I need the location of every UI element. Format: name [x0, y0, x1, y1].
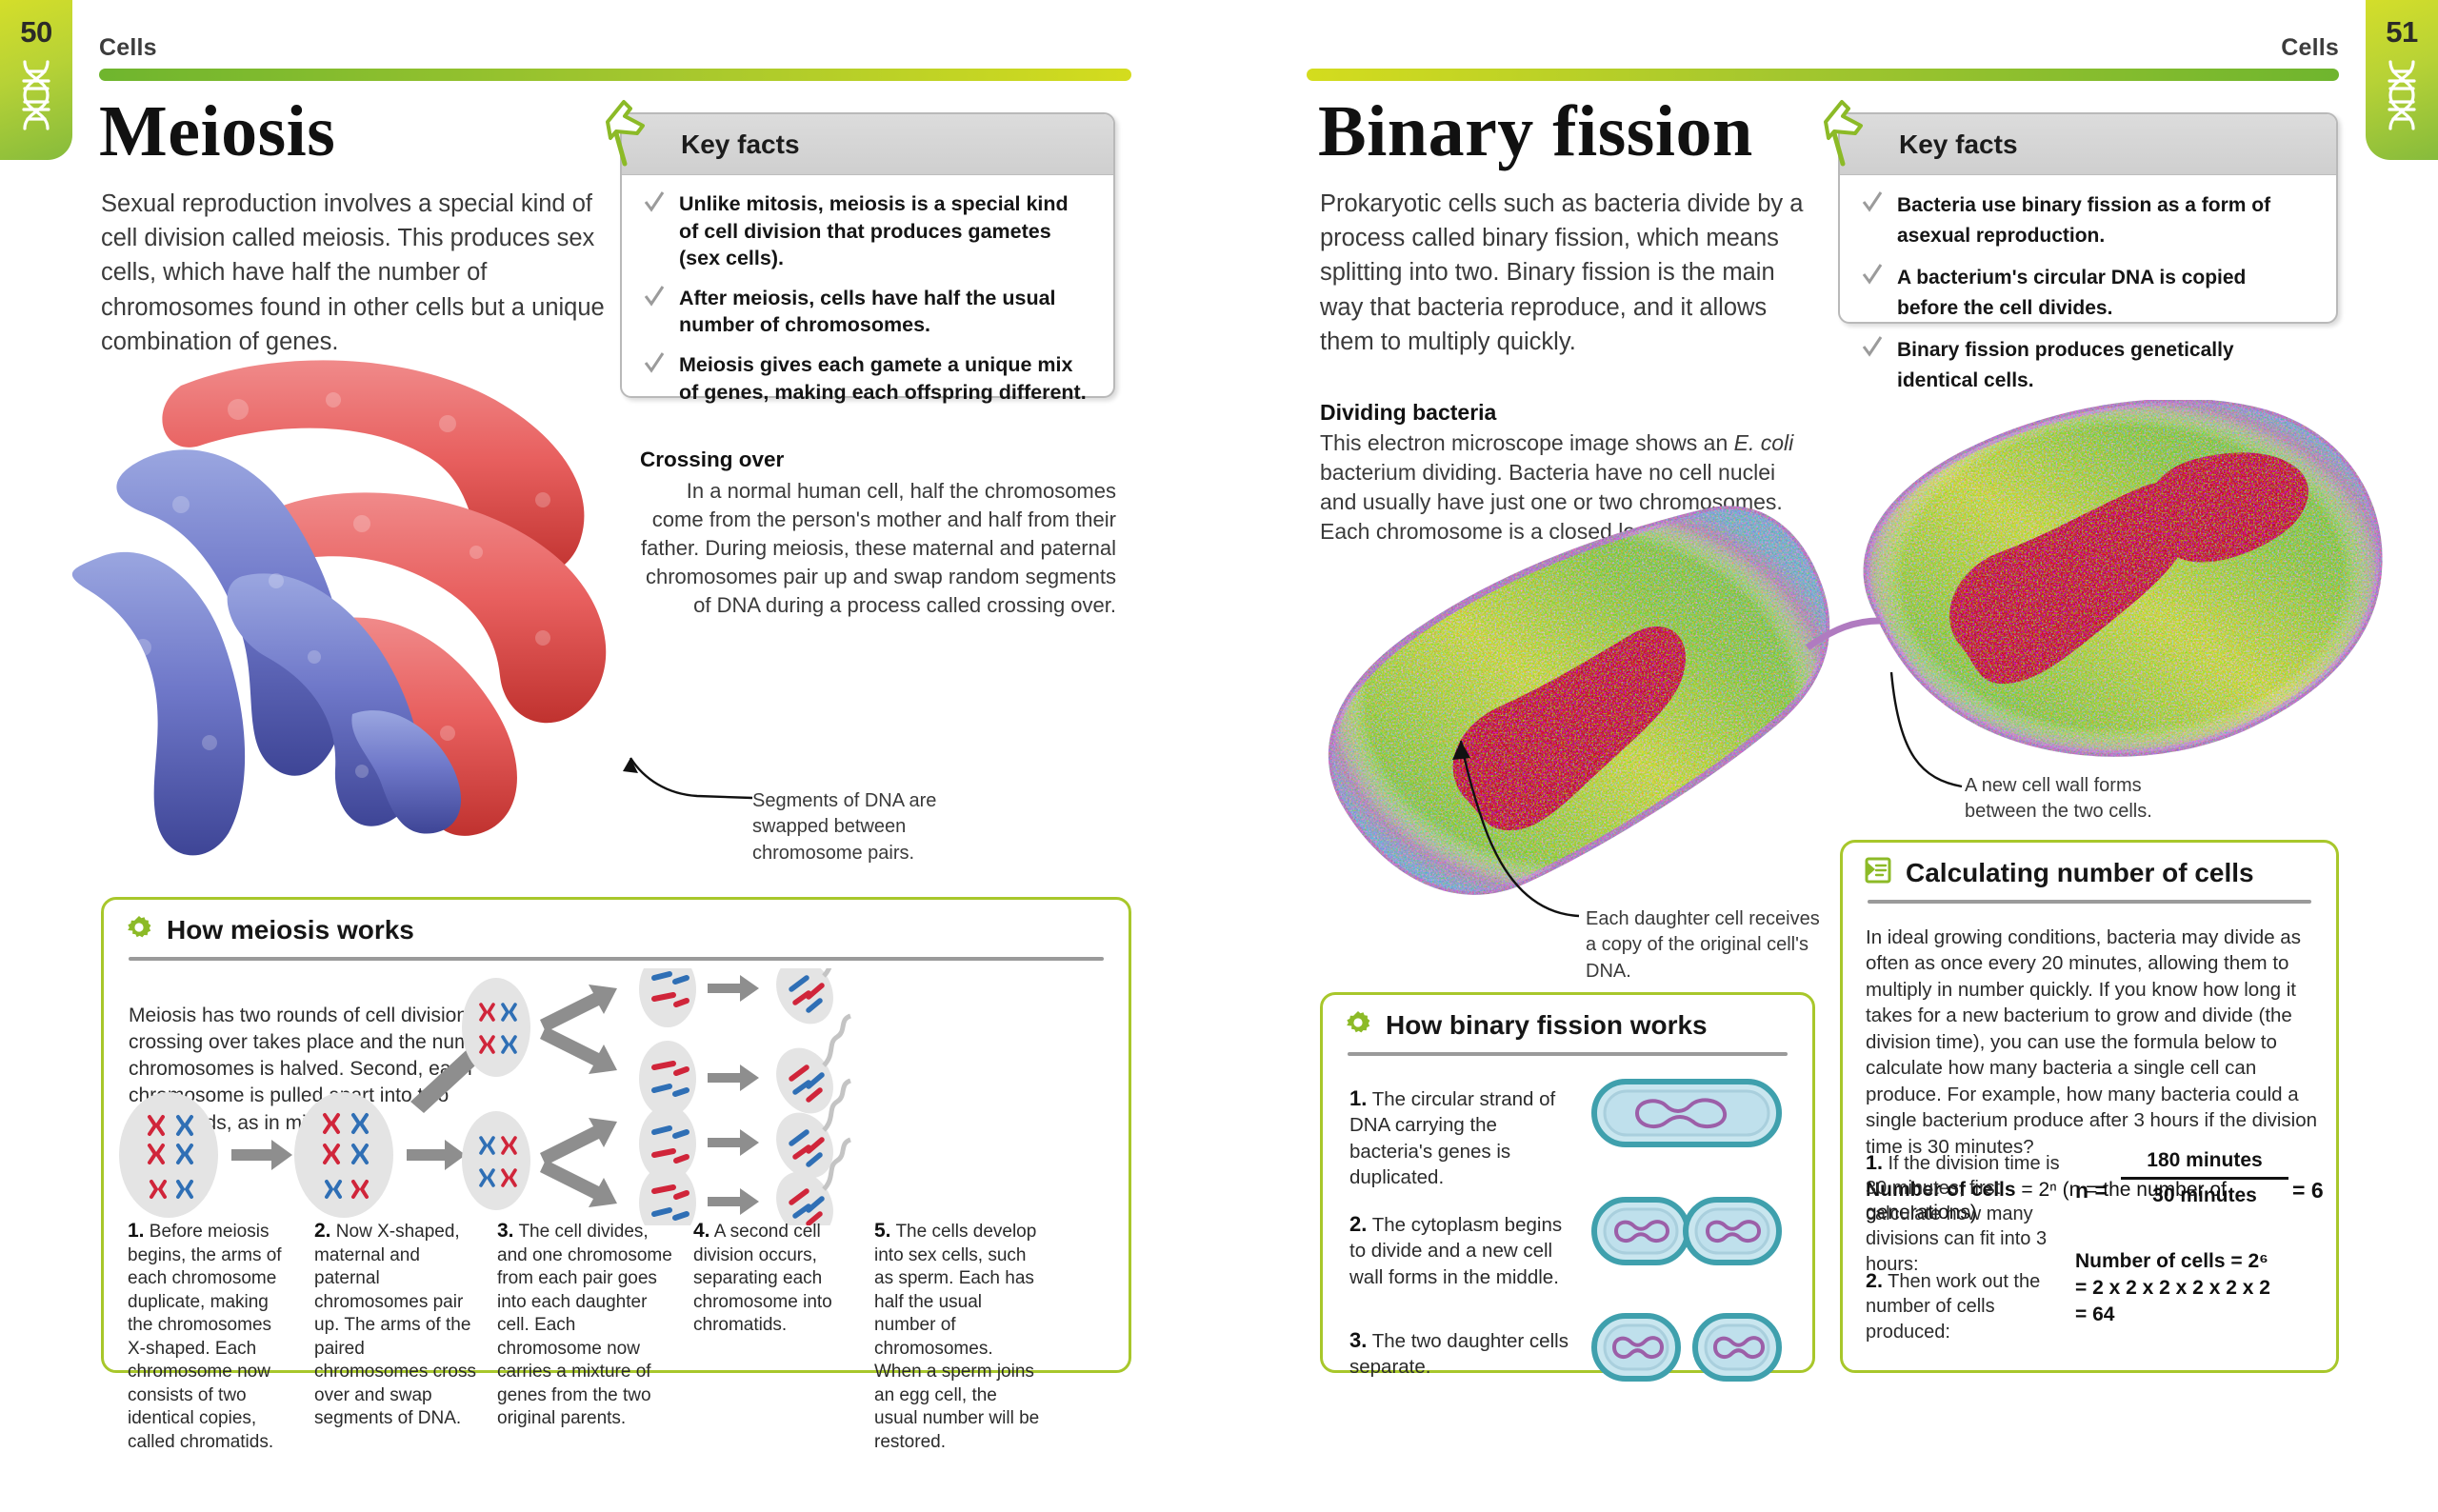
calc-result-line: = 2 x 2 x 2 x 2 x 2 x 2 [2075, 1275, 2332, 1302]
step-number: 5. [874, 1220, 891, 1242]
key-facts-title-left: Key facts [681, 129, 800, 160]
equation-fraction: 180 minutes 30 minutes [2121, 1147, 2288, 1209]
calculating-number-of-cells-box: Calculating number of cells In ideal gro… [1840, 840, 2339, 1373]
meiosis-step: 1. Before meiosis begins, the arms of ea… [117, 1218, 304, 1454]
key-fact-item: Binary fission produces genetically iden… [1861, 335, 2311, 395]
gear-icon [1344, 1008, 1372, 1042]
key-facts-body-left: Unlike mitosis, meiosis is a special kin… [622, 175, 1113, 428]
calc-step-1: 1. If the division time is 30 minutes, f… [1866, 1149, 2066, 1277]
crossing-over-text: In a normal human cell, half the chromos… [641, 479, 1116, 618]
dna-helix-icon [2382, 58, 2422, 137]
note-icon [1864, 856, 1892, 889]
step-text: The cytoplasm begins to divide and a new… [1349, 1214, 1562, 1288]
divider [129, 957, 1104, 961]
step-text: The circular strand of DNA carrying the … [1349, 1088, 1555, 1188]
key-facts-panel-left: Key facts Unlike mitosis, meiosis is a s… [620, 112, 1115, 398]
fission-figure-2 [1591, 1197, 1782, 1265]
step-text: Before meiosis begins, the arms of each … [128, 1222, 282, 1452]
meiosis-flow-diagram [104, 968, 1129, 1225]
dna-helix-icon [16, 58, 56, 137]
key-facts-title-right: Key facts [1899, 129, 2018, 160]
checkmark-icon [1861, 335, 1884, 395]
key-fact-text: After meiosis, cells have half the usual… [679, 285, 1089, 339]
how-binary-fission-works-box: How binary fission works 1. The circular… [1320, 992, 1815, 1373]
key-fact-item: Bacteria use binary fission as a form of… [1861, 190, 2311, 250]
fraction-bar [2121, 1177, 2288, 1180]
step-number: 1. [1349, 1086, 1367, 1110]
meiosis-step: 5. The cells develop into sex cells, suc… [864, 1218, 1052, 1454]
key-facts-panel-right: Key facts Bacteria use binary fission as… [1838, 112, 2338, 324]
calc-step-2: 2. Then work out the number of cells pro… [1866, 1267, 2060, 1344]
leader-line-segments [609, 752, 771, 819]
fission-step: 3. The two daughter cells separate. [1349, 1326, 1569, 1381]
running-head-left: Cells [99, 34, 157, 62]
fraction-numerator: 180 minutes [2121, 1147, 2288, 1174]
how-meiosis-header: How meiosis works [104, 900, 1129, 946]
meiosis-steps-row: 1. Before meiosis begins, the arms of ea… [104, 1218, 1129, 1454]
fission-figure-1 [1591, 1079, 1782, 1147]
key-fact-item: Meiosis gives each gamete a unique mix o… [643, 351, 1089, 406]
checkmark-icon [643, 351, 666, 406]
key-facts-body-right: Bacteria use binary fission as a form of… [1840, 175, 2336, 417]
how-fission-header: How binary fission works [1323, 995, 1812, 1042]
key-fact-text: Meiosis gives each gamete a unique mix o… [679, 351, 1089, 406]
step-number: 4. [693, 1220, 710, 1242]
calc-paragraph: In ideal growing conditions, bacteria ma… [1866, 925, 2321, 1160]
checkmark-icon [643, 285, 666, 339]
meiosis-step: 2. Now X-shaped, maternal and paternal c… [304, 1218, 487, 1454]
new-cell-wall-label: A new cell wall forms between the two ce… [1965, 773, 2212, 826]
meiosis-step: 4. A second cell division occurs, separa… [683, 1218, 864, 1454]
step-number: 2. [1866, 1269, 1883, 1292]
leader-line-daughter-cell [1438, 733, 1600, 933]
page-tab-left: 50 [0, 0, 72, 160]
key-fact-text: Bacteria use binary fission as a form of… [1897, 190, 2311, 250]
calc-result: Number of cells = 2⁶ = 2 x 2 x 2 x 2 x 2… [2075, 1248, 2332, 1328]
step-text: The two daughter cells separate. [1349, 1330, 1569, 1378]
key-fact-text: A bacterium's circular DNA is copied bef… [1897, 263, 2311, 323]
fraction-denominator: 30 minutes [2121, 1183, 2288, 1209]
page-title-meiosis: Meiosis [99, 95, 335, 168]
step-text: Then work out the number of cells produc… [1866, 1271, 2040, 1343]
how-meiosis-works-box: How meiosis works Meiosis has two rounds… [101, 897, 1131, 1373]
daughter-cell-label: Each daughter cell receives a copy of th… [1586, 906, 1824, 985]
book-spread: 50 Cells Meiosis Sexual reproduction inv… [0, 0, 2438, 1512]
step-number: 2. [314, 1220, 331, 1242]
page-tab-right: 51 [2366, 0, 2438, 160]
step-text: Now X-shaped, maternal and paternal chro… [314, 1222, 476, 1428]
calc-result-line: = 64 [2075, 1302, 2332, 1328]
step-number: 3. [1349, 1328, 1367, 1352]
step-text: A second cell division occurs, separatin… [693, 1222, 832, 1335]
step-number: 1. [1866, 1151, 1883, 1174]
checkmark-icon [1861, 190, 1884, 250]
crossing-over-caption: Crossing over In a normal human cell, ha… [640, 446, 1116, 620]
leader-line-cell-wall [1867, 666, 1990, 790]
checkmark-icon [643, 190, 666, 272]
page-number-left: 50 [20, 17, 51, 47]
page-number-right: 51 [2386, 17, 2417, 47]
key-fact-text: Unlike mitosis, meiosis is a special kin… [679, 190, 1089, 272]
step-text: The cell divides, and one chromosome fro… [497, 1222, 672, 1428]
checkmark-icon [1861, 263, 1884, 323]
header-rule-right [1307, 69, 2339, 81]
step-number: 3. [497, 1220, 514, 1242]
calc-title: Calculating number of cells [1906, 858, 2254, 888]
key-fact-item: Unlike mitosis, meiosis is a special kin… [643, 190, 1089, 272]
pushpin-icon [1813, 93, 1874, 178]
step-text: The cells develop into sex cells, such a… [874, 1222, 1039, 1452]
divider [1868, 900, 2311, 904]
segments-dna-label: Segments of DNA are swapped between chro… [752, 788, 1000, 866]
calc-result-line: Number of cells = 2⁶ [2075, 1248, 2332, 1275]
pushpin-icon [595, 93, 656, 178]
how-meiosis-title: How meiosis works [167, 915, 414, 945]
divider [1348, 1052, 1788, 1056]
key-fact-item: After meiosis, cells have half the usual… [643, 285, 1089, 339]
key-facts-header-left: Key facts [622, 114, 1113, 175]
step-number: 2. [1349, 1212, 1367, 1236]
how-fission-title: How binary fission works [1386, 1010, 1708, 1041]
running-head-right: Cells [2281, 34, 2339, 62]
header-rule-left [99, 69, 1131, 81]
gear-icon [125, 913, 153, 946]
calc-header: Calculating number of cells [1843, 843, 2336, 889]
fission-step: 2. The cytoplasm begins to divide and a … [1349, 1210, 1569, 1290]
equation-rhs: = 6 [2292, 1178, 2324, 1204]
page-title-binary-fission: Binary fission [1318, 95, 1753, 168]
meiosis-step: 3. The cell divides, and one chromosome … [487, 1218, 683, 1454]
crossing-over-title: Crossing over [640, 446, 1116, 475]
fission-step: 1. The circular strand of DNA carrying t… [1349, 1084, 1569, 1190]
fission-figure-3 [1591, 1313, 1782, 1382]
step-number: 1. [128, 1220, 145, 1242]
step-text: If the division time is 30 minutes, firs… [1866, 1153, 2060, 1275]
key-fact-text: Binary fission produces genetically iden… [1897, 335, 2311, 395]
equation-lhs: n = [2075, 1178, 2108, 1204]
key-facts-header-right: Key facts [1840, 114, 2336, 175]
intro-paragraph-right: Prokaryotic cells such as bacteria divid… [1320, 187, 1825, 359]
key-fact-item: A bacterium's circular DNA is copied bef… [1861, 263, 2311, 323]
